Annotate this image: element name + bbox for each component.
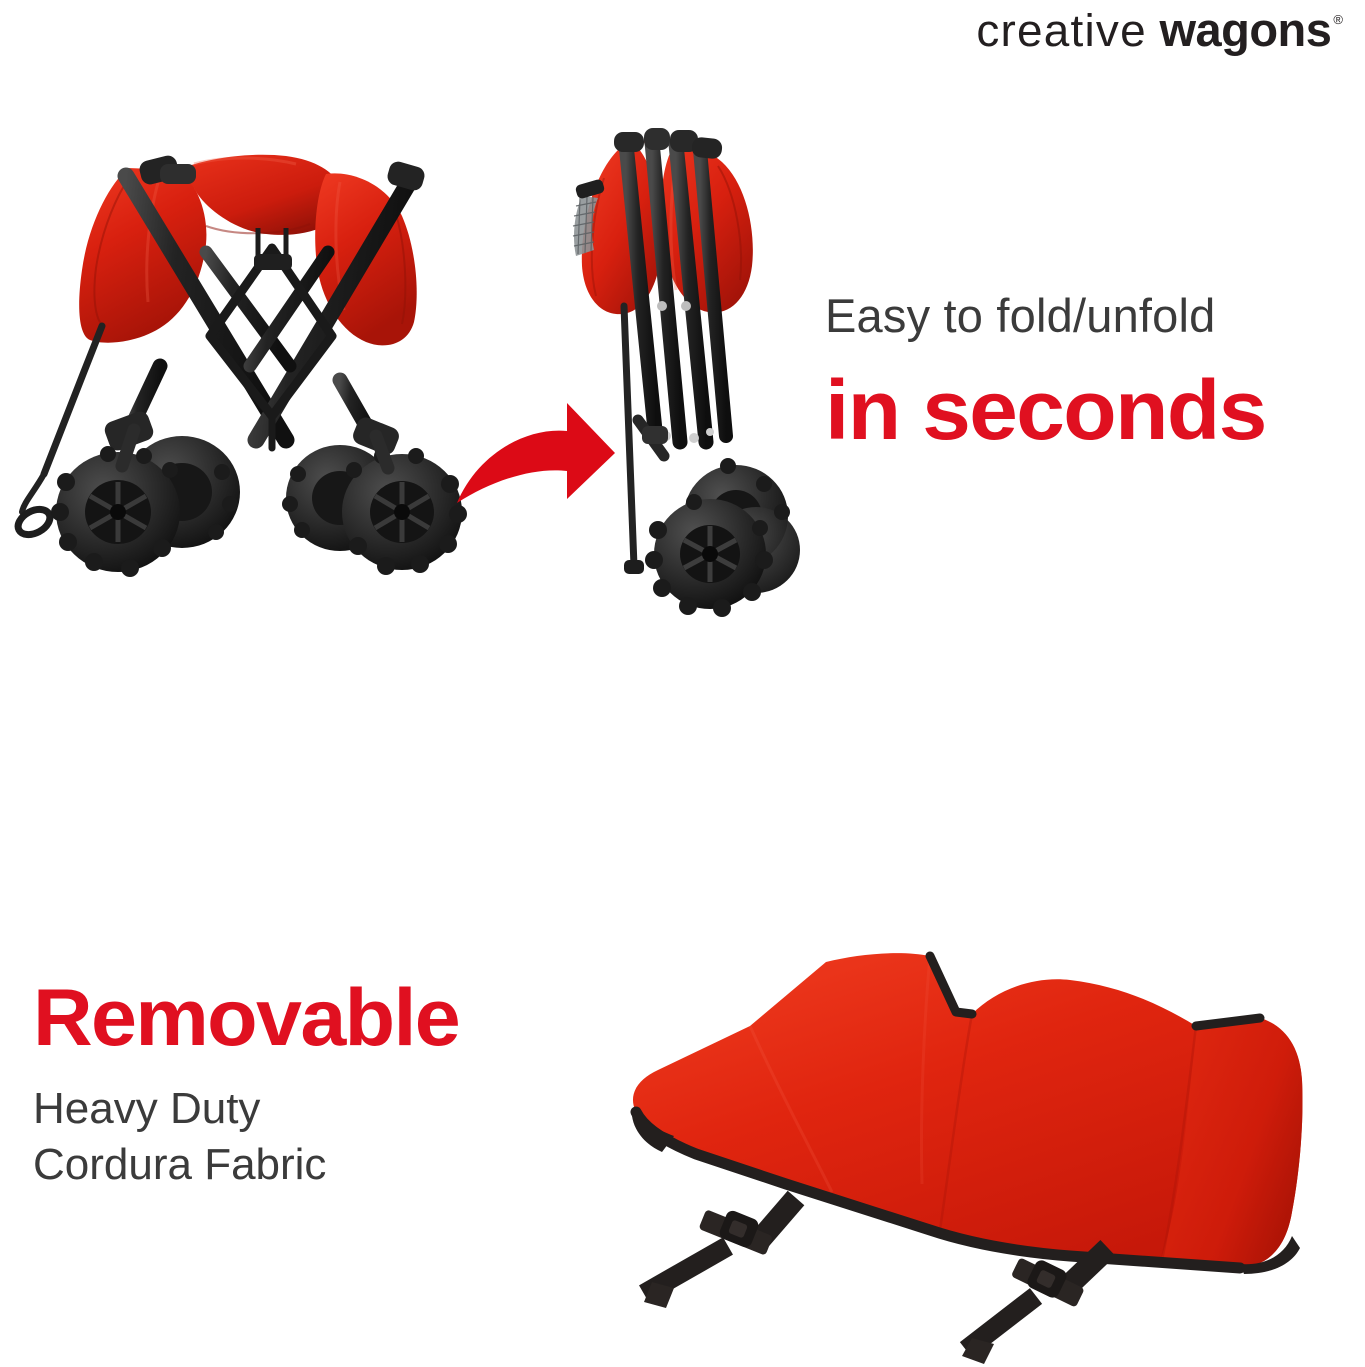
fabric-subline-2: Cordura Fabric <box>33 1137 633 1193</box>
liner-strap-right <box>962 1248 1108 1364</box>
fabric-subline-1: Heavy Duty <box>33 1081 633 1137</box>
removable-fabric-liner-image <box>600 930 1360 1360</box>
panel-fold-unfold: Easy to fold/unfold in seconds <box>0 110 1365 640</box>
wheel-front-left <box>51 366 240 577</box>
brand-logo-creative: creative <box>977 5 1148 57</box>
brand-logo-wagons: wagons <box>1159 2 1331 57</box>
fold-headline-bold: in seconds <box>825 366 1365 454</box>
fabric-headline-bold: Removable <box>33 978 645 1059</box>
brand-logo: creative wagons ® <box>978 2 1343 57</box>
fold-headline-light: Easy to fold/unfold <box>825 290 1360 342</box>
liner-strap-left <box>644 1198 796 1308</box>
wagon-partially-folded-image <box>10 130 480 600</box>
wheel-front-right <box>282 380 467 575</box>
fold-unfold-copy: Easy to fold/unfold in seconds <box>825 290 1360 454</box>
registered-trademark-icon: ® <box>1333 12 1343 27</box>
panel-removable-fabric: Removable Heavy Duty Cordura Fabric <box>0 900 1365 1367</box>
removable-fabric-copy: Removable Heavy Duty Cordura Fabric <box>33 978 633 1194</box>
wagon-fully-folded-image <box>560 120 810 630</box>
folded-wheels <box>645 458 800 617</box>
